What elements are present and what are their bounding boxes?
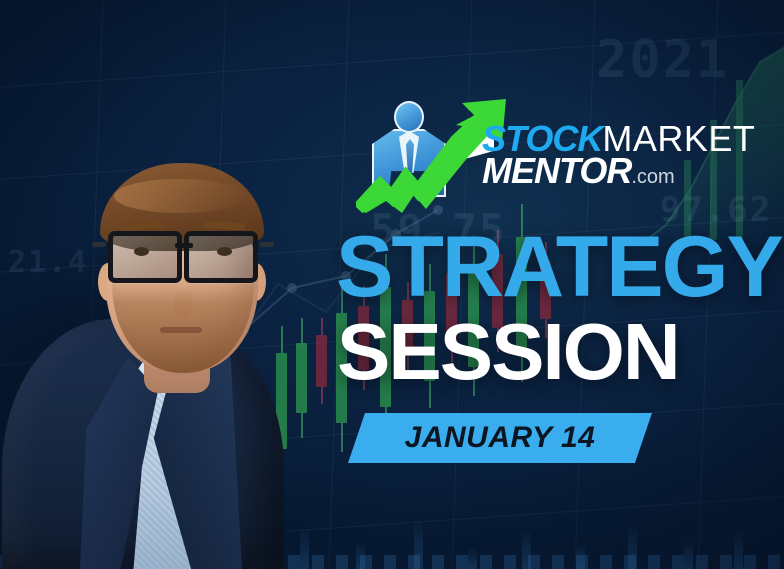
- glasses-bridge: [175, 243, 193, 248]
- headline-strategy: STRATEGY: [336, 224, 782, 310]
- glasses-lens-left: [108, 231, 182, 283]
- glasses-temple-right: [260, 242, 274, 247]
- presenter-nose: [174, 289, 192, 319]
- date-banner[interactable]: JANUARY 14: [348, 413, 652, 463]
- presenter-eye-left: [134, 247, 149, 256]
- glasses-temple-left: [92, 242, 106, 247]
- presenter-photo: [0, 49, 290, 569]
- presenter-mouth: [160, 327, 202, 333]
- glasses-lens-right: [184, 231, 258, 283]
- presenter-eye-right: [217, 247, 232, 256]
- brand-wordmark: STOCKMARKET MENTOR.com: [482, 121, 732, 199]
- wordmark-com: .com: [631, 166, 674, 188]
- brand-logo[interactable]: STOCKMARKET MENTOR.com: [362, 97, 724, 201]
- wordmark-mentor: MENTOR: [482, 150, 631, 191]
- thumbnail-canvas: 202197.6259.7521.4: [0, 0, 784, 569]
- wordmark-line-2: MENTOR.com: [482, 153, 675, 195]
- headline-session: SESSION: [337, 312, 679, 392]
- date-banner-label: JANUARY 14: [348, 413, 652, 463]
- presenter-glasses-icon: [104, 231, 262, 277]
